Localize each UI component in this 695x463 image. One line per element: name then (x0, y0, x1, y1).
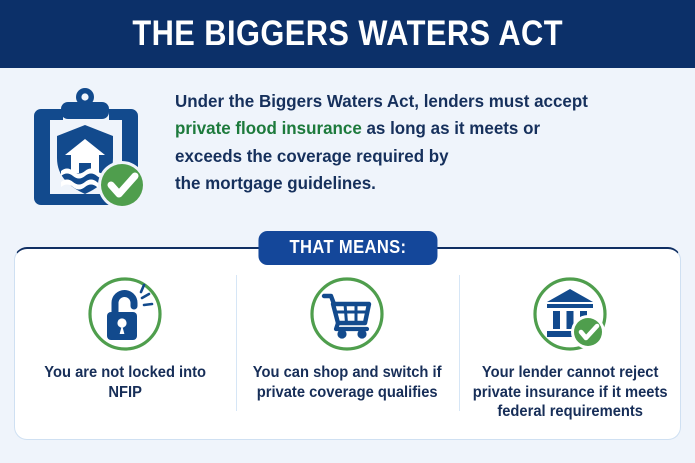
open-padlock-icon (83, 271, 167, 357)
page-title: THE BIGGERS WATERS ACT (132, 14, 563, 54)
intro-section: Under the Biggers Waters Act, lenders mu… (0, 68, 695, 230)
intro-line-2-rest: as long as it meets or (362, 118, 540, 138)
benefit-columns: You are not locked into NFIP (14, 249, 681, 440)
benefit-label: Your lender cannot reject private insura… (464, 363, 675, 422)
benefit-column-nfip: You are not locked into NFIP (14, 249, 236, 440)
that-means-banner: THAT MEANS: (258, 231, 437, 265)
benefit-label: You are not locked into NFIP (20, 363, 231, 402)
infographic-page: THE BIGGERS WATERS ACT (0, 0, 695, 463)
intro-line-3: exceeds the coverage required by (175, 146, 449, 166)
intro-line-4: the mortgage guidelines. (175, 173, 376, 193)
intro-highlight: private flood insurance (175, 118, 362, 138)
bank-approved-icon (528, 271, 612, 357)
shopping-cart-icon (305, 271, 389, 357)
benefit-label: You can shop and switch if private cover… (242, 363, 453, 402)
header-bar: THE BIGGERS WATERS ACT (0, 0, 695, 68)
intro-paragraph: Under the Biggers Waters Act, lenders mu… (175, 68, 655, 197)
intro-line-1: Under the Biggers Waters Act, lenders mu… (175, 91, 588, 111)
that-means-label: THAT MEANS: (289, 237, 406, 258)
clipboard-flood-insurance-approved-icon (0, 68, 175, 228)
benefit-column-shop: You can shop and switch if private cover… (236, 249, 458, 440)
benefit-column-lender: Your lender cannot reject private insura… (459, 249, 681, 440)
